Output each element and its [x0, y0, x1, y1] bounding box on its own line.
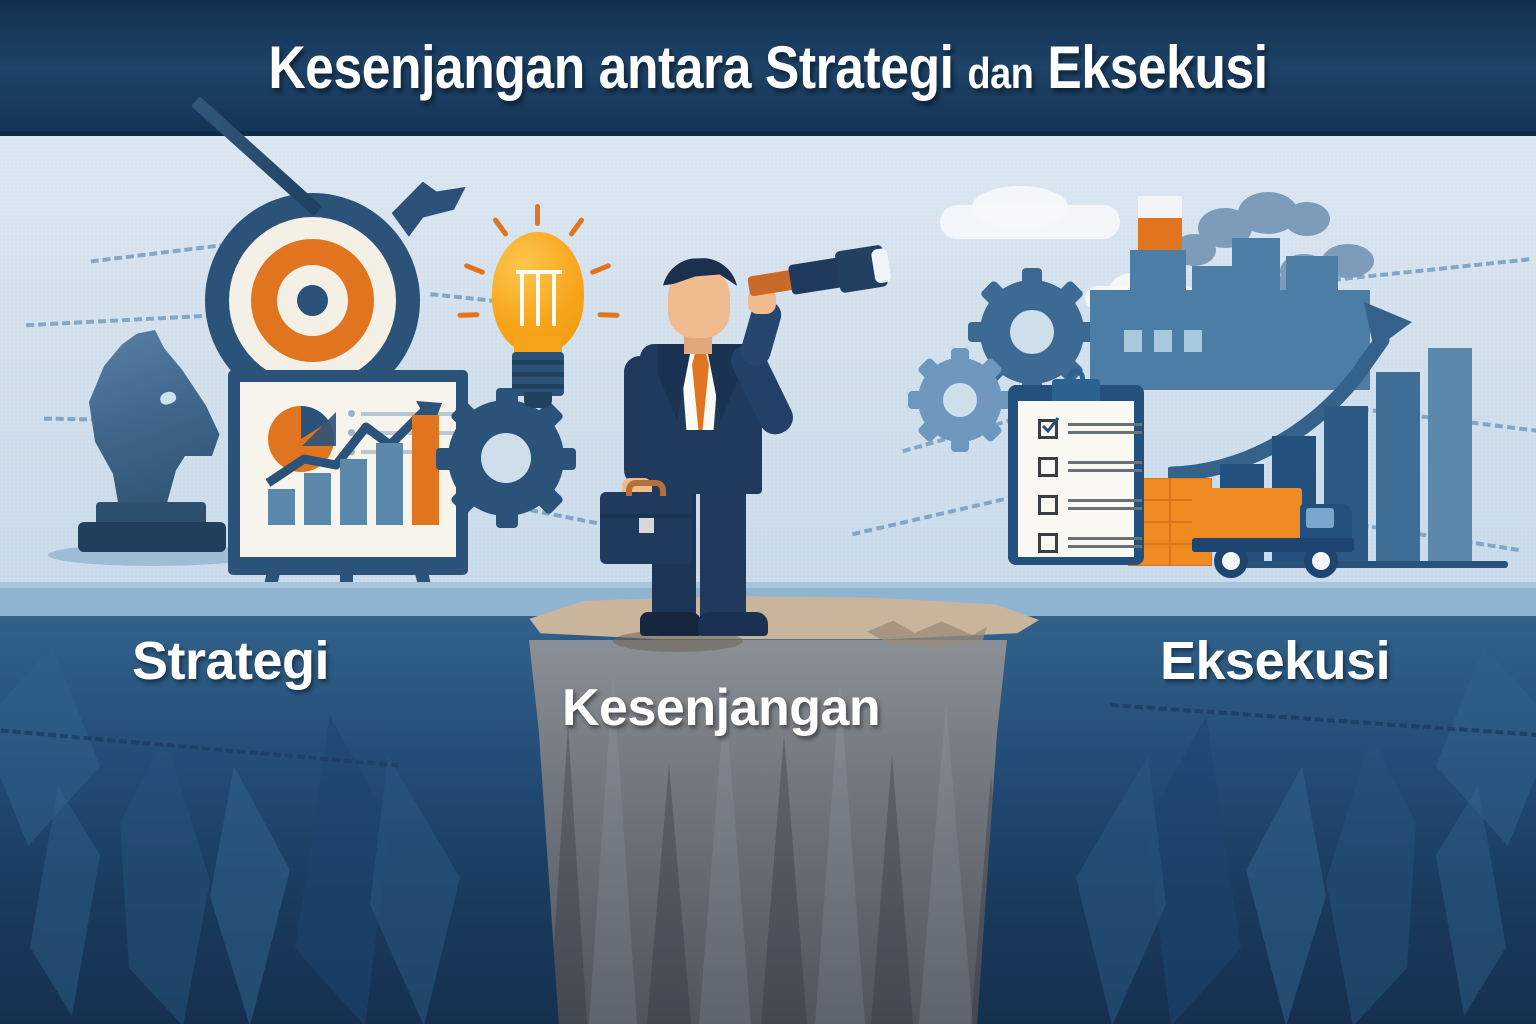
exec-bar-5 — [1428, 348, 1472, 562]
briefcase-clasp — [639, 518, 654, 533]
title-part-2: Eksekusi — [1033, 34, 1267, 101]
checkbox-icon[interactable] — [1038, 457, 1058, 477]
rock-spike — [871, 754, 913, 1024]
checklist-line — [1068, 423, 1142, 426]
bulb-filament-loop — [516, 270, 562, 274]
clipboard-checklist-icon — [1008, 385, 1144, 565]
shoe-right — [698, 612, 768, 636]
bulb-ray — [535, 204, 540, 226]
briefcase-icon — [600, 492, 692, 564]
factory-window — [1124, 330, 1142, 352]
checkbox-icon[interactable] — [1038, 533, 1058, 553]
truck-window — [1306, 508, 1334, 528]
gear-hole — [1010, 310, 1054, 354]
checklist-line — [1068, 461, 1142, 464]
bulb-filament — [552, 274, 556, 326]
checklist-row[interactable] — [1038, 495, 1142, 517]
briefcase-handle — [626, 480, 666, 496]
check-mark-icon — [1041, 417, 1059, 435]
bulb-filament — [536, 274, 540, 326]
board-screen — [240, 382, 456, 557]
knight-base-lower — [78, 522, 226, 552]
bulb-ray — [457, 312, 479, 318]
title-banner: Kesenjangan antara Strategi dan Eksekusi — [0, 0, 1536, 136]
checklist-row[interactable] — [1038, 533, 1142, 555]
bulb-base-ring — [512, 360, 564, 365]
clipboard-paper — [1018, 401, 1134, 557]
checklist-row[interactable] — [1038, 457, 1142, 479]
board-bar-4 — [376, 443, 403, 525]
rock-spike — [549, 724, 587, 1024]
checklist-line — [1068, 507, 1142, 510]
cloud-icon — [972, 186, 1068, 228]
truck-wheel-hub — [1312, 552, 1330, 570]
board-bar-1 — [268, 489, 295, 525]
presentation-board-icon — [228, 370, 468, 575]
knight-head — [74, 330, 224, 510]
gear-icon — [918, 358, 1002, 442]
target-bullseye-center — [297, 285, 328, 316]
label-eksekusi: Eksekusi — [1160, 630, 1390, 692]
title-part-1: Kesenjangan antara Strategi — [268, 34, 967, 101]
rock-spike — [761, 734, 807, 1024]
rock-spike — [971, 774, 1011, 1024]
gear-hole — [481, 433, 531, 483]
board-bar-2 — [304, 473, 331, 525]
checklist-line — [1068, 545, 1142, 548]
shoe-left — [640, 612, 702, 636]
bulb-filament — [520, 274, 524, 326]
factory-block — [1192, 266, 1236, 290]
gear-hole — [943, 383, 977, 417]
checklist-line — [1068, 537, 1142, 540]
label-kesenjangan: Kesenjangan — [562, 678, 880, 738]
factory-block — [1232, 238, 1280, 290]
rock-spike — [647, 764, 691, 1024]
bulb-base-ring — [512, 372, 564, 377]
infographic-canvas: Kesenjangan antara Strategi dan Eksekusi — [0, 0, 1536, 1024]
rock-spike — [699, 694, 751, 1024]
label-strategi: Strategi — [132, 630, 329, 692]
truck-wheel-hub — [1222, 552, 1240, 570]
checkbox-icon[interactable] — [1038, 495, 1058, 515]
bulb-base-ring — [512, 384, 564, 389]
page-title: Kesenjangan antara Strategi dan Eksekusi — [268, 38, 1267, 98]
factory-block — [1286, 256, 1338, 290]
lightbulb-icon — [478, 232, 596, 412]
rock-spike — [919, 704, 973, 1024]
board-bar-3 — [340, 459, 367, 525]
factory-block — [1130, 250, 1186, 290]
leg-right — [700, 488, 746, 624]
gear-icon — [448, 400, 564, 516]
smokestack-stripe — [1138, 218, 1182, 250]
businessman-with-telescope — [596, 240, 796, 640]
delivery-truck-icon — [1192, 488, 1360, 570]
checklist-line — [1068, 469, 1142, 472]
checklist-row[interactable] — [1038, 419, 1142, 441]
title-word-dan: dan — [967, 49, 1033, 98]
board-bar-5 — [412, 415, 439, 525]
truck-cargo — [1192, 488, 1302, 538]
center-plateau — [497, 596, 1039, 1024]
checklist-line — [1068, 431, 1142, 434]
checklist-line — [1068, 499, 1142, 502]
bulb-tip — [524, 392, 552, 408]
smokestack-icon — [1138, 196, 1182, 218]
arm-left — [624, 356, 658, 486]
exec-bar-4 — [1376, 372, 1420, 562]
